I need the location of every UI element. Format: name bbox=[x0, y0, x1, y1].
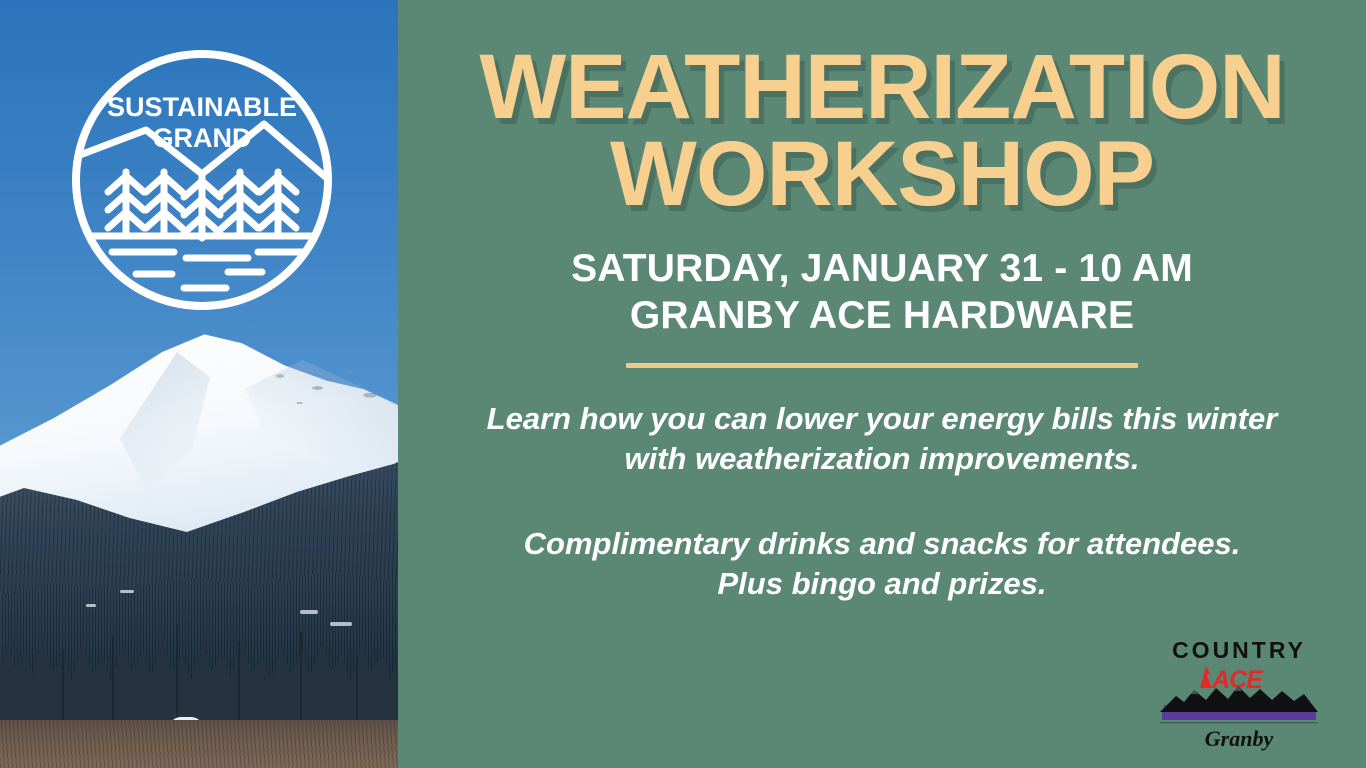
sustainable-grand-logo: SUSTAINABLE GRAND bbox=[68, 46, 336, 314]
tree-trunk bbox=[356, 654, 358, 728]
content-panel: WEATHERIZATION WORKSHOP SATURDAY, JANUAR… bbox=[398, 0, 1366, 768]
brush-texture bbox=[0, 720, 398, 768]
perks-paragraph: Complimentary drinks and snacks for atte… bbox=[524, 524, 1241, 605]
page-title: WEATHERIZATION WORKSHOP bbox=[479, 44, 1284, 219]
ace-logo-country-text: COUNTRY bbox=[1172, 637, 1306, 663]
exposed-rock-detail bbox=[250, 358, 398, 418]
event-location: GRANBY ACE HARDWARE bbox=[571, 292, 1193, 340]
divider-rule bbox=[626, 363, 1138, 368]
headline-line-2: WORKSHOP bbox=[479, 131, 1284, 218]
tree-trunk bbox=[300, 632, 302, 728]
snow-patch bbox=[86, 604, 96, 607]
tree-trunk bbox=[238, 642, 240, 728]
flyer-canvas: SUSTAINABLE GRAND WEATHERIZATION WORKSHO… bbox=[0, 0, 1366, 768]
description-line-1: Learn how you can lower your energy bill… bbox=[487, 399, 1278, 439]
sg-logo-line1: SUSTAINABLE bbox=[107, 92, 297, 122]
snow-patch bbox=[330, 622, 352, 626]
description-line-2: with weatherization improvements. bbox=[487, 439, 1278, 479]
snow-patch bbox=[120, 590, 134, 593]
ace-logo-granby-text: Granby bbox=[1205, 726, 1274, 751]
description-paragraph: Learn how you can lower your energy bill… bbox=[487, 399, 1278, 480]
perks-line-1: Complimentary drinks and snacks for atte… bbox=[524, 524, 1241, 564]
sg-logo-line2: GRAND bbox=[153, 123, 252, 153]
tree-trunk bbox=[112, 636, 114, 728]
mountain-photo-panel: SUSTAINABLE GRAND bbox=[0, 0, 398, 768]
tree-trunk bbox=[62, 650, 64, 728]
event-details: SATURDAY, JANUARY 31 - 10 AM GRANBY ACE … bbox=[571, 245, 1193, 340]
tree-trunk bbox=[176, 624, 178, 728]
perks-line-2: Plus bingo and prizes. bbox=[524, 564, 1241, 604]
ace-wordmark: ACE bbox=[1200, 666, 1264, 694]
snow-patch bbox=[300, 610, 318, 614]
event-datetime: SATURDAY, JANUARY 31 - 10 AM bbox=[571, 245, 1193, 293]
country-ace-granby-logo: COUNTRY ACE Granby bbox=[1154, 636, 1324, 754]
